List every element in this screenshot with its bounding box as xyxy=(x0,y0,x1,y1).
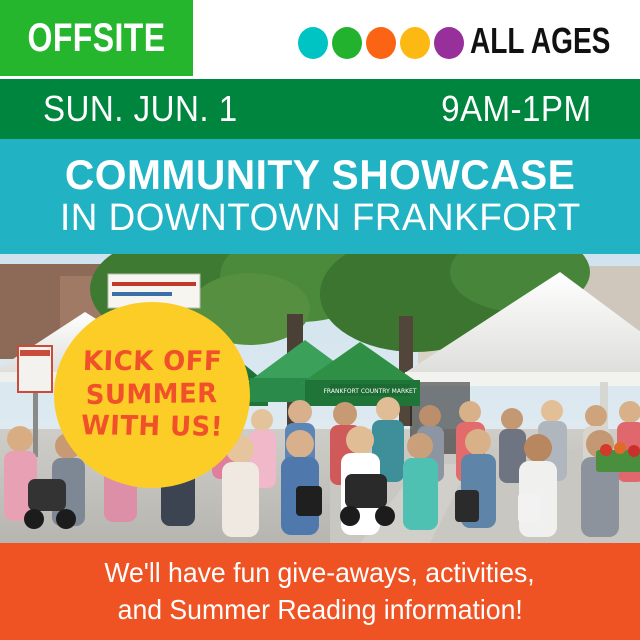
event-poster: OFFSITE ALL AGES SUN. JUN. 1 9AM-1PM COM… xyxy=(0,0,640,640)
badge-line-2: SUMMER xyxy=(86,378,218,413)
headline-bar: COMMUNITY SHOWCASE IN DOWNTOWN FRANKFORT xyxy=(0,139,640,254)
schedule-bar: SUN. JUN. 1 9AM-1PM xyxy=(0,79,640,139)
dot-teal-icon xyxy=(298,27,328,59)
event-date: SUN. JUN. 1 xyxy=(43,79,238,139)
kick-off-summer-badge: KICK OFF SUMMER WITH US! xyxy=(54,302,250,488)
svg-text:FRANKFORT COUNTRY MARKET: FRANKFORT COUNTRY MARKET xyxy=(323,388,416,395)
event-time: 9AM-1PM xyxy=(442,79,592,139)
event-location: IN DOWNTOWN FRANKFORT xyxy=(60,199,581,239)
footer-bar: We'll have fun give-aways, activities, a… xyxy=(0,543,640,640)
footer-line-2: and Summer Reading information! xyxy=(117,592,522,629)
offsite-badge: OFFSITE xyxy=(0,0,193,76)
audience-label: ALL AGES xyxy=(470,19,587,63)
age-dots-group xyxy=(298,27,464,59)
event-title: COMMUNITY SHOWCASE xyxy=(65,154,575,197)
dot-green-icon xyxy=(332,27,362,59)
badge-line-1: KICK OFF xyxy=(82,346,222,379)
badge-line-3: WITH US! xyxy=(80,411,223,445)
dot-purple-icon xyxy=(434,27,464,59)
header-bar: OFFSITE ALL AGES xyxy=(0,0,640,79)
dot-amber-icon xyxy=(400,27,430,59)
dot-orange-icon xyxy=(366,27,396,59)
offsite-label: OFFSITE xyxy=(19,0,173,76)
footer-line-1: We'll have fun give-aways, activities, xyxy=(105,555,535,592)
